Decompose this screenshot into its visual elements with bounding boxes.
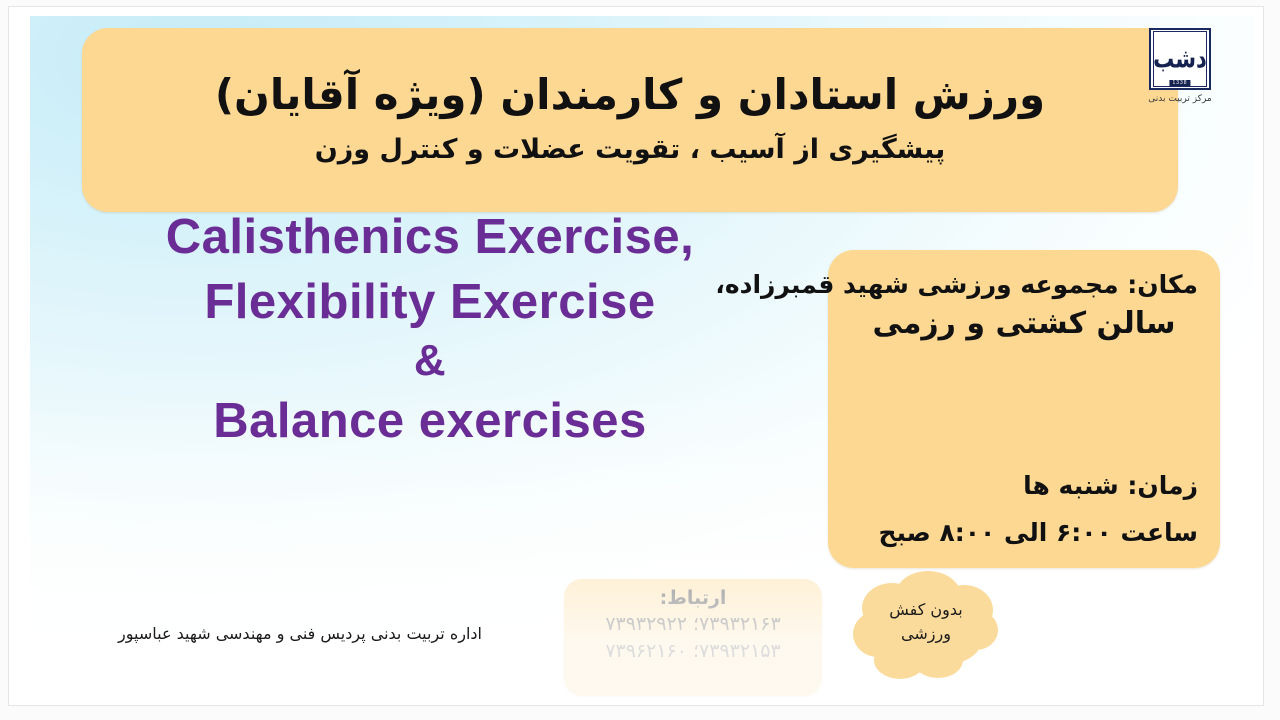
no-shoes-line-1: بدون کفش xyxy=(852,598,1000,622)
no-shoes-cloud-badge: بدون کفش ورزشی xyxy=(852,568,1000,688)
contact-card: ارتباط: ۷۳۹۳۲۱۶۳؛ ۷۳۹۳۲۹۲۲ ۷۳۹۳۲۱۵۳؛ ۷۳۹… xyxy=(564,579,822,696)
poster-frame: دشب 1338 مرکز تربیت بدنی ورزش استادان و … xyxy=(8,6,1264,706)
no-shoes-line-2: ورزشی xyxy=(852,622,1000,646)
event-details-card: مکان: مجموعه ورزشی شهید قمبرزاده، سالن ک… xyxy=(828,250,1220,568)
university-logo-caption: مرکز تربیت بدنی xyxy=(1120,94,1240,104)
event-day: زمان: شنبه ها xyxy=(850,469,1198,503)
english-ampersand: & xyxy=(30,338,830,384)
university-logo-year: 1338 xyxy=(1169,80,1190,86)
university-logo-mark: دشب 1338 xyxy=(1149,28,1211,90)
contact-phone-row-2: ۷۳۹۳۲۱۵۳؛ ۷۳۹۶۲۱۶۰ xyxy=(574,638,812,666)
page-title: ورزش استادان و کارمندان (ویژه آقایان) xyxy=(215,70,1045,120)
poster-canvas: دشب 1338 مرکز تربیت بدنی ورزش استادان و … xyxy=(0,0,1280,720)
title-card: ورزش استادان و کارمندان (ویژه آقایان) پی… xyxy=(82,28,1178,212)
poster-slide: دشب 1338 مرکز تربیت بدنی ورزش استادان و … xyxy=(30,16,1254,698)
university-logo-inner: دشب 1338 xyxy=(1153,31,1207,87)
no-shoes-text: بدون کفش ورزشی xyxy=(852,598,1000,646)
event-place: مکان: مجموعه ورزشی شهید قمبرزاده، xyxy=(850,268,1198,302)
organizer-note: اداره تربیت بدنی پردیس فنی و مهندسی شهید… xyxy=(90,624,510,643)
university-logo-glyph: دشب xyxy=(1153,46,1207,72)
event-time: ساعت ۶:۰۰ الی ۸:۰۰ صبح xyxy=(850,516,1198,550)
english-program-list: Calisthenics Exercise, Flexibility Exerc… xyxy=(30,212,830,447)
contact-title: ارتباط: xyxy=(574,587,812,611)
page-subtitle: پیشگیری از آسیب ، تقویت عضلات و کنترل وز… xyxy=(315,134,946,166)
contact-phone-row-1: ۷۳۹۳۲۱۶۳؛ ۷۳۹۳۲۹۲۲ xyxy=(574,611,812,639)
english-line-flexibility: Flexibility Exercise xyxy=(30,277,830,328)
university-logo: دشب 1338 مرکز تربیت بدنی xyxy=(1120,28,1240,104)
english-line-calisthenics: Calisthenics Exercise, xyxy=(30,212,830,263)
english-line-balance: Balance exercises xyxy=(30,396,830,447)
event-hall: سالن کشتی و رزمی xyxy=(850,304,1198,345)
